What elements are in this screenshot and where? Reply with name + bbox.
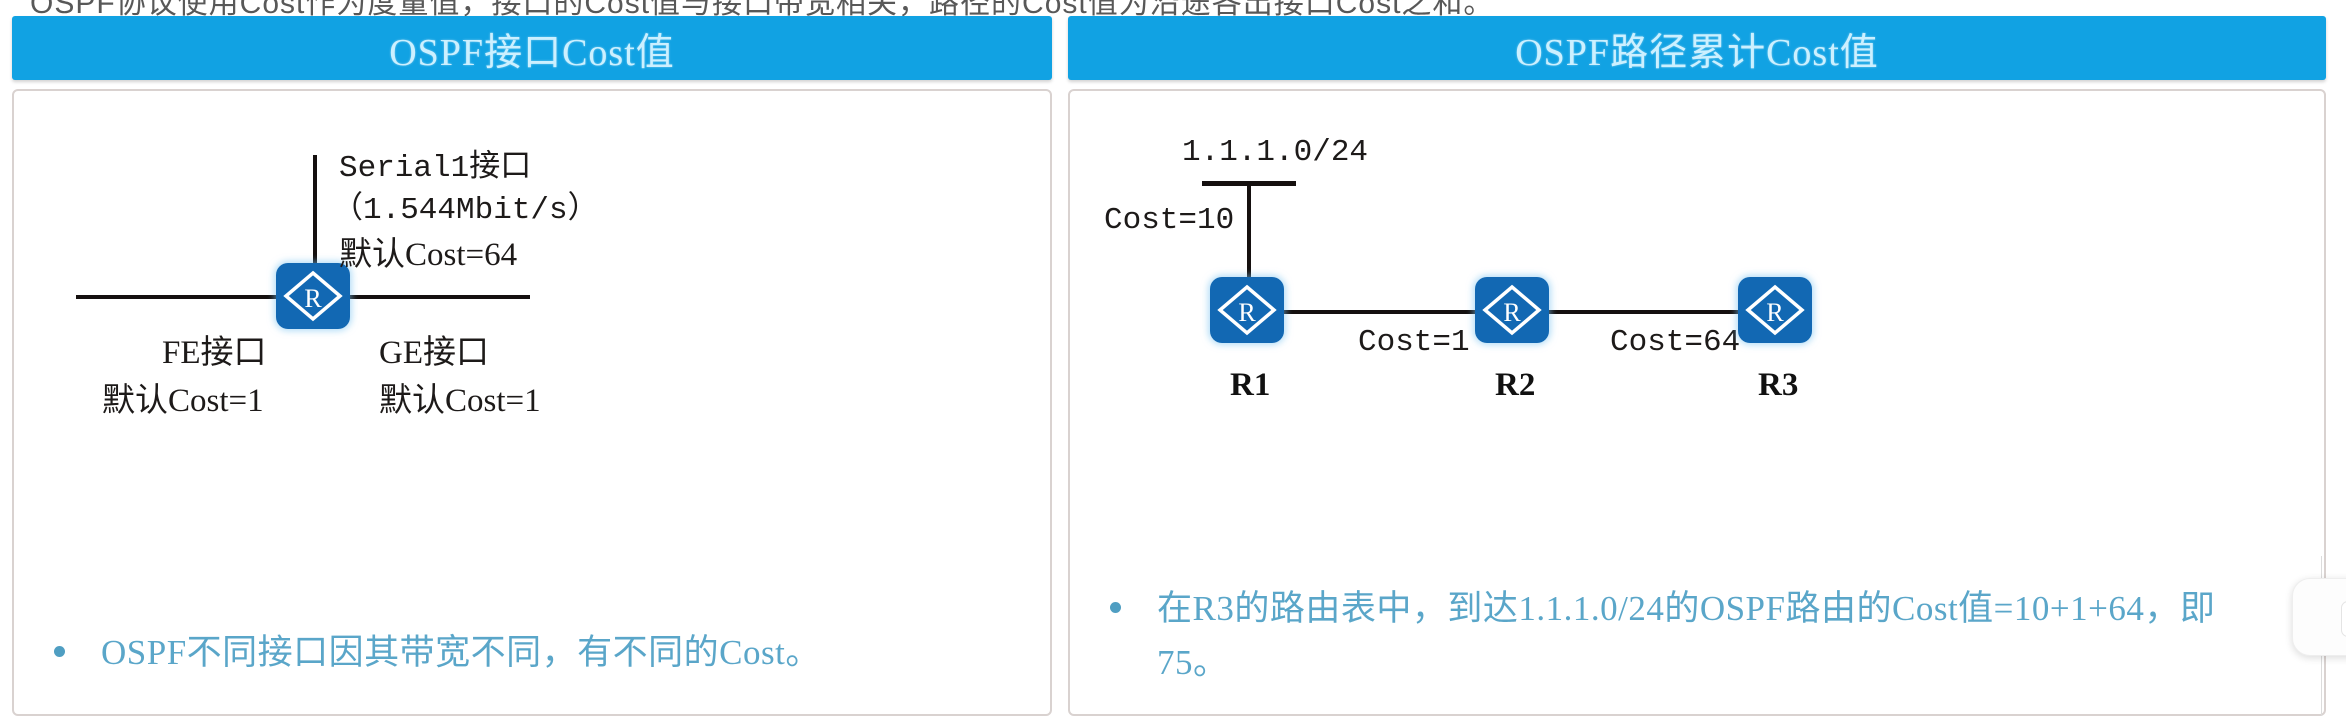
- router-icon-r3[interactable]: R: [1738, 277, 1812, 343]
- fe-default-cost-label: 默认Cost=1: [102, 381, 264, 423]
- router-name-r2: R2: [1495, 367, 1535, 404]
- panel-right-body: 1.1.1.0/24 Cost=10 Cost=1 Cost=64 R: [1068, 89, 2326, 716]
- bullet-item: 在R3的路由表中，到达1.1.1.0/24的OSPF路由的Cost值=10+1+…: [1096, 582, 2298, 691]
- floating-edge-widget[interactable]: [2292, 578, 2346, 656]
- router-icon-r2[interactable]: R: [1475, 277, 1549, 343]
- top-cutoff-text: OSPF协议使用Cost作为度量值，接口的Cost值与接口带宽相关，路径的Cos…: [30, 0, 1494, 16]
- panel-right-title: OSPF路径累计Cost值: [1068, 16, 2326, 80]
- diagram-single-router: R Serial1接口 （1.544Mbit/s） 默认Cost=64 FE接口…: [14, 91, 1050, 714]
- ge-link-line: [348, 295, 530, 299]
- panel-ospf-path-cumulative-cost: OSPF路径累计Cost值 1.1.1.0/24 Cost=10 Cost=1 …: [1068, 16, 2326, 716]
- link-cost-label-r1-r2: Cost=1: [1358, 323, 1470, 362]
- panel-right-bullets: 在R3的路由表中，到达1.1.1.0/24的OSPF路由的Cost值=10+1+…: [1070, 582, 2324, 691]
- ge-interface-label: GE接口: [379, 333, 489, 375]
- link-cost-label-lan-r1: Cost=10: [1104, 201, 1234, 240]
- panel-ospf-interface-cost: OSPF接口Cost值 R Serial1接口 （1.544Mbit/s）: [12, 16, 1052, 716]
- router-name-r3: R3: [1758, 367, 1798, 404]
- ge-default-cost-label: 默认Cost=1: [379, 381, 541, 423]
- fe-interface-label: FE接口: [162, 333, 267, 375]
- bullet-dot-icon: [1110, 602, 1121, 613]
- panel-container: OSPF接口Cost值 R Serial1接口 （1.544Mbit/s）: [0, 16, 2346, 716]
- router-name-r1: R1: [1230, 367, 1270, 404]
- subnet-label: 1.1.1.0/24: [1182, 133, 1368, 172]
- serial-default-cost-label: 默认Cost=64: [339, 235, 517, 277]
- svg-text:R: R: [1503, 298, 1521, 327]
- bullet-text: 在R3的路由表中，到达1.1.1.0/24的OSPF路由的Cost值=10+1+…: [1157, 582, 2247, 691]
- bullet-item: OSPF不同接口因其带宽不同，有不同的Cost。: [40, 626, 1024, 680]
- svg-text:R: R: [1238, 298, 1256, 327]
- bullet-text: OSPF不同接口因其带宽不同，有不同的Cost。: [101, 626, 821, 680]
- top-cutoff-text-strip: OSPF协议使用Cost作为度量值，接口的Cost值与接口带宽相关，路径的Cos…: [0, 0, 2346, 16]
- panel-left-body: R Serial1接口 （1.544Mbit/s） 默认Cost=64 FE接口…: [12, 89, 1052, 716]
- serial-bandwidth-label: （1.544Mbit/s）: [332, 191, 599, 230]
- svg-text:R: R: [1766, 298, 1784, 327]
- bullet-dot-icon: [54, 646, 65, 657]
- r1-uplink-line: [1247, 181, 1251, 279]
- panel-left-bullets: OSPF不同接口因其带宽不同，有不同的Cost。: [14, 626, 1050, 680]
- link-cost-label-r2-r3: Cost=64: [1610, 323, 1740, 362]
- router-icon-r1[interactable]: R: [1210, 277, 1284, 343]
- serial-interface-label-line1: Serial1接口: [339, 149, 531, 188]
- panel-left-title: OSPF接口Cost值: [12, 16, 1052, 80]
- svg-text:R: R: [304, 284, 322, 313]
- edge-widget-notch-icon: [2341, 601, 2346, 637]
